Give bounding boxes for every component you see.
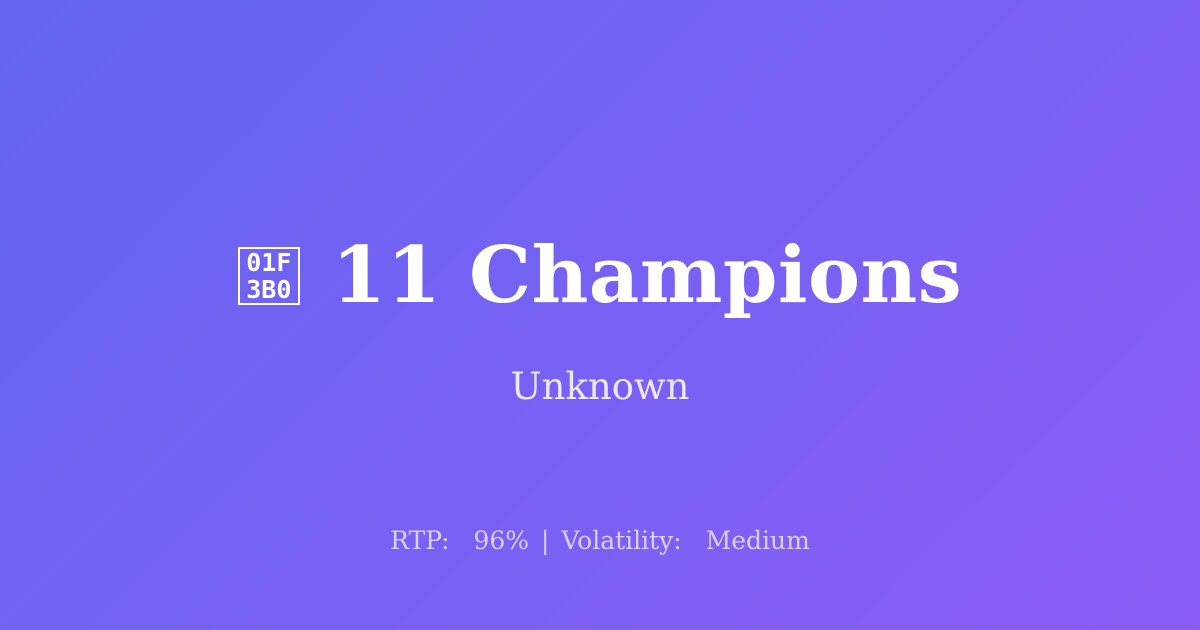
page-title: 11 Champions <box>332 233 962 319</box>
stats-separator: | <box>537 526 553 555</box>
rtp-value: 96% <box>473 526 529 555</box>
volatility-value: Medium <box>706 526 810 555</box>
tofu-hex-line-top: 01F <box>246 249 291 276</box>
slot-machine-icon: 01F 3B0 <box>238 247 300 305</box>
rtp-label: RTP: <box>390 526 449 555</box>
tofu-hex-line-bottom: 3B0 <box>246 276 291 303</box>
game-stats-line: RTP: 96% | Volatility: Medium <box>0 524 1200 558</box>
game-provider-subtitle: Unknown <box>0 363 1200 411</box>
volatility-label: Volatility: <box>561 526 681 555</box>
title-row: 01F 3B0 11 Champions <box>0 233 1200 319</box>
game-og-card: 01F 3B0 11 Champions Unknown RTP: 96% | … <box>0 0 1200 630</box>
